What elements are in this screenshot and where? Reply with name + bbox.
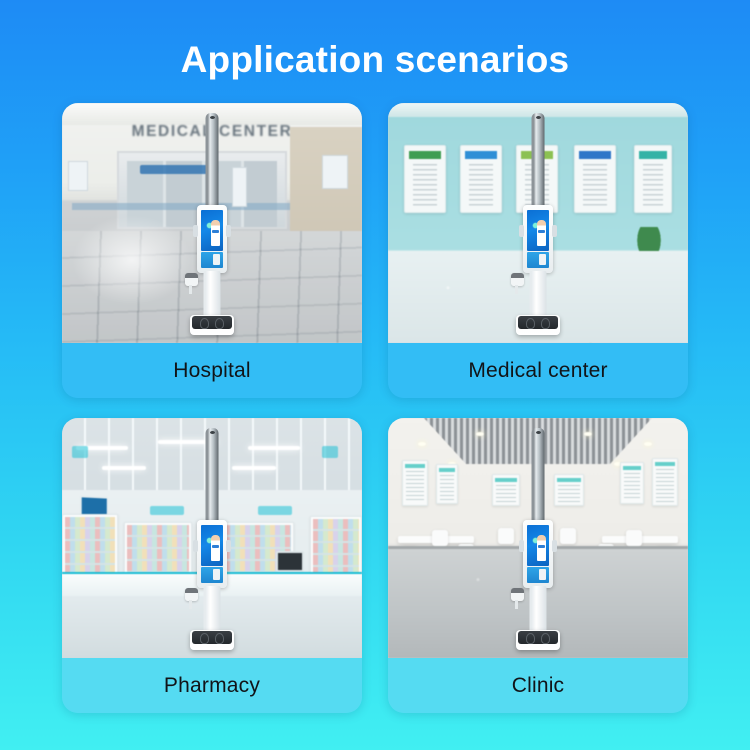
- nutrition-poster: [574, 145, 616, 213]
- kiosk-handle-right: [552, 540, 557, 552]
- shelf-sign: [258, 506, 292, 515]
- kiosk-handle-left: [193, 225, 198, 237]
- kiosk-display-head: [197, 520, 227, 588]
- clinic-label: Clinic: [512, 674, 565, 698]
- kiosk-lower-panel: [527, 567, 549, 583]
- kiosk-height-mast: [532, 428, 545, 528]
- kiosk-column: [204, 586, 221, 634]
- wall-poster: [620, 462, 644, 504]
- lobby-poster: [68, 161, 88, 191]
- ceiling-light: [248, 446, 300, 450]
- counter-monitor: [276, 551, 304, 572]
- measurement-kiosk: [509, 113, 567, 335]
- kiosk-handle-left: [519, 225, 524, 237]
- page-title: Application scenarios: [0, 36, 750, 84]
- kiosk-display-head: [523, 205, 553, 273]
- floor-light-glare: [72, 215, 192, 305]
- kiosk-screen: [527, 525, 549, 566]
- kiosk-lower-panel: [201, 252, 223, 268]
- downlight: [644, 442, 652, 446]
- kiosk-doctor-graphic: [537, 535, 546, 561]
- clinic-caption: Clinic: [388, 658, 688, 713]
- kiosk-height-mast: [206, 428, 219, 528]
- wall-poster: [402, 460, 428, 506]
- scenario-card-medical-center[interactable]: Medical center: [388, 103, 688, 398]
- kiosk-base: [190, 630, 234, 650]
- scenario-card-hospital[interactable]: MEDICAL CENTER: [62, 103, 362, 398]
- clinic-chair: [432, 530, 448, 546]
- anatomy-poster: [404, 145, 446, 213]
- ceiling-light: [102, 466, 146, 470]
- wall-poster: [652, 458, 678, 506]
- kiosk-column: [204, 271, 221, 319]
- anatomy-poster: [634, 145, 672, 213]
- hospital-caption: Hospital: [62, 343, 362, 398]
- kiosk-screen: [527, 210, 549, 251]
- medical-center-photo: [388, 103, 688, 343]
- pharmacy-caption: Pharmacy: [62, 658, 362, 713]
- kiosk-height-mast: [206, 113, 219, 213]
- clinic-chair: [626, 530, 642, 546]
- clinic-photo: [388, 418, 688, 658]
- kiosk-doctor-graphic: [211, 220, 220, 246]
- anatomy-poster: [460, 145, 502, 213]
- measurement-kiosk: [183, 113, 241, 335]
- kiosk-base: [516, 630, 560, 650]
- kiosk-handle-left: [193, 540, 198, 552]
- kiosk-cup-holder: [185, 273, 198, 286]
- downlight: [584, 432, 592, 436]
- kiosk-cup-holder: [511, 588, 524, 601]
- kiosk-doctor-graphic: [537, 220, 546, 246]
- pharmacy-label: Pharmacy: [164, 674, 260, 698]
- downlight: [476, 432, 484, 436]
- kiosk-foot-plate: [518, 631, 558, 644]
- measurement-kiosk: [183, 428, 241, 650]
- hospital-label: Hospital: [173, 359, 250, 383]
- kiosk-cup-holder: [185, 588, 198, 601]
- kiosk-screen: [201, 210, 223, 251]
- kiosk-handle-right: [226, 540, 231, 552]
- kiosk-base: [190, 315, 234, 335]
- aisle-sign: [322, 446, 338, 458]
- kiosk-display-head: [523, 520, 553, 588]
- scenario-card-pharmacy[interactable]: Pharmacy: [62, 418, 362, 713]
- measurement-kiosk: [509, 428, 567, 650]
- kiosk-display-head: [197, 205, 227, 273]
- kiosk-handle-right: [552, 225, 557, 237]
- downlight: [418, 442, 426, 446]
- kiosk-lower-panel: [527, 252, 549, 268]
- hospital-photo: MEDICAL CENTER: [62, 103, 362, 343]
- medical-center-label: Medical center: [468, 359, 607, 383]
- kiosk-base: [516, 315, 560, 335]
- kiosk-column: [530, 586, 547, 634]
- pharmacy-photo: [62, 418, 362, 658]
- aisle-sign: [72, 446, 88, 458]
- kiosk-screen: [201, 525, 223, 566]
- kiosk-handle-right: [226, 225, 231, 237]
- lobby-poster: [322, 155, 348, 189]
- wall-poster: [436, 464, 458, 504]
- scenario-card-clinic[interactable]: Clinic: [388, 418, 688, 713]
- kiosk-lower-panel: [201, 567, 223, 583]
- kiosk-column: [530, 271, 547, 319]
- kiosk-foot-plate: [518, 316, 558, 329]
- scenario-card-grid: MEDICAL CENTER: [62, 103, 688, 723]
- kiosk-handle-left: [519, 540, 524, 552]
- kiosk-cup-holder: [511, 273, 524, 286]
- lobby-reception-desk: [72, 203, 292, 210]
- kiosk-doctor-graphic: [211, 535, 220, 561]
- application-scenarios-page: Application scenarios MEDICAL CENTER: [0, 0, 750, 750]
- medical-center-caption: Medical center: [388, 343, 688, 398]
- shelf-sign: [150, 506, 184, 515]
- kiosk-foot-plate: [192, 631, 232, 644]
- kiosk-height-mast: [532, 113, 545, 213]
- kiosk-foot-plate: [192, 316, 232, 329]
